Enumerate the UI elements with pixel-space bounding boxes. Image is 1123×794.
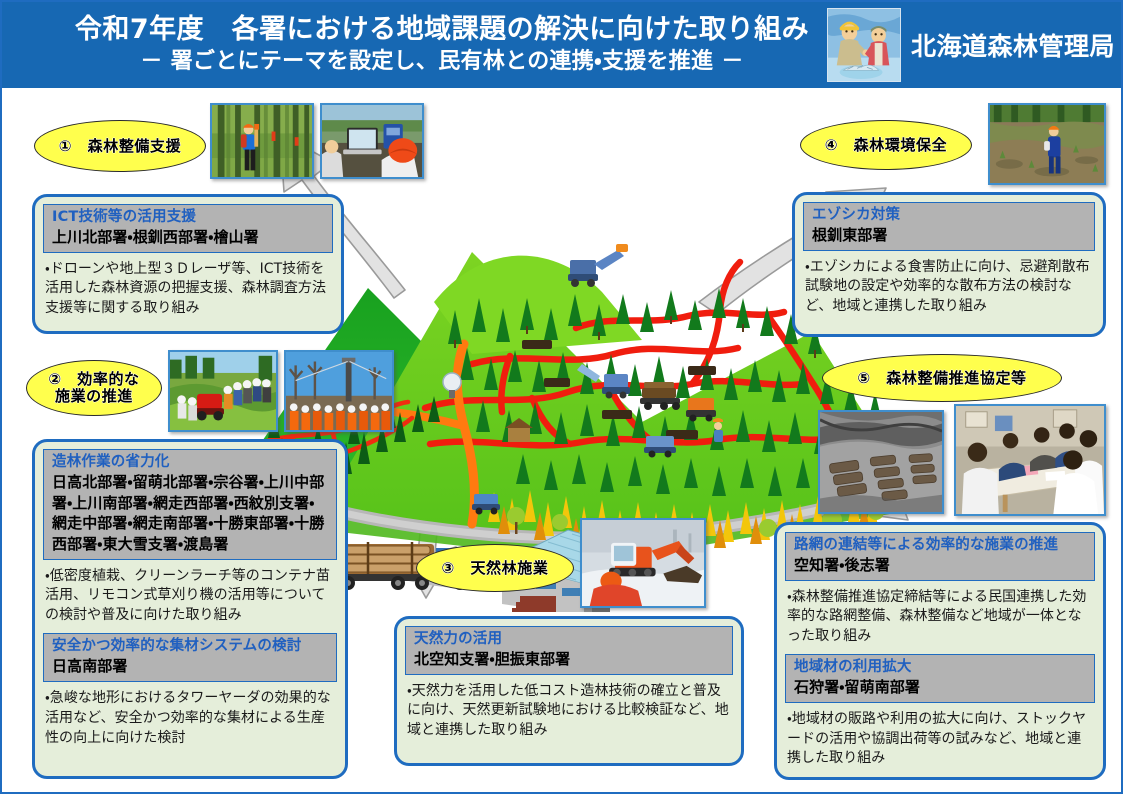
badge-section-2-label: ② 効率的な 施業の推進 (48, 371, 139, 405)
forwarder-icon (640, 382, 680, 410)
theme-offices: 空知署・後志署 (794, 555, 1086, 576)
theme-header: ICT技術等の活用支援 上川北部署・根釧西部署・檜山署 (43, 204, 333, 253)
theme-description: ・天然力を活用した低コスト造林技術の確立と普及に向け、天然更新試験地における比較… (405, 678, 733, 744)
theme-header: 路網の連結等による効率的な施業の推進 空知署・後志署 (785, 532, 1095, 581)
badge-section-5-label: ⑤ 森林整備推進協定等 (857, 370, 1026, 387)
field-laptop-measurement-photo (320, 103, 424, 179)
harvester-icon (568, 244, 628, 287)
forest-survey-photo (210, 103, 314, 179)
panel-section-5: 路網の連結等による効率的な施業の推進 空知署・後志署 ・森林整備推進協定締結等に… (774, 522, 1106, 780)
tower-yarder-crowd-photo (284, 350, 394, 432)
theme-title: 安全かつ効率的な集材システムの検討 (52, 637, 328, 656)
page-subtitle: － 署ごとにテーマを設定し、民有林との連携・支援を推進 － (140, 49, 743, 75)
remote-mower-demo-photo (168, 350, 278, 432)
panel-section-2: 造林作業の省力化 日高北部署・留萌北部署・宗谷署・上川中部署・上川南部署・網走西… (32, 439, 348, 779)
theme-header: 造林作業の省力化 日高北部署・留萌北部署・宗谷署・上川中部署・上川南部署・網走西… (43, 449, 337, 560)
theme-description: ・低密度植栽、クリーンラーチ等のコンテナ苗活用、リモコン式草刈り機の活用等につい… (43, 563, 337, 629)
theme-offices: 上川北部署・根釧西部署・檜山署 (52, 227, 324, 248)
theme-offices: 石狩署・留萌南部署 (794, 677, 1086, 698)
badge-section-1: ① 森林整備支援 (34, 120, 206, 172)
badge-section-4-label: ④ 森林環境保全 (825, 137, 948, 154)
theme-description: ・森林整備推進協定締結等による民国連携した効率的な路網整備、森林整備など地域が一… (785, 584, 1095, 650)
theme-title: 地域材の利用拡大 (794, 658, 1086, 677)
panel-section-1: ICT技術等の活用支援 上川北部署・根釧西部署・檜山署 ・ドローンや地上型３Ｄレ… (32, 194, 344, 334)
page-title: 令和7年度 各署における地域課題の解決に向けた取り組み (75, 14, 809, 45)
panel-section-4: エゾシカ対策 根釧東部署 ・エゾシカによる食害防止に向け、忌避剤散布試験地の設定… (792, 192, 1106, 337)
poster-page: 令和7年度 各署における地域課題の解決に向けた取り組み － 署ごとにテーマを設定… (0, 0, 1123, 794)
theme-description: ・地域材の販路や利用の拡大に向け、ストックヤードの活用や協調出荷等の試みなど、地… (785, 706, 1095, 772)
theme-title: 天然力の活用 (414, 630, 724, 649)
theme-offices: 根釧東部署 (812, 225, 1086, 246)
theme-header: エゾシカ対策 根釧東部署 (803, 202, 1095, 251)
badge-section-3-label: ③ 天然林施業 (442, 560, 549, 577)
repellent-spraying-photo (988, 103, 1106, 185)
agreement-meeting-photo (954, 404, 1106, 516)
header-title-group: 令和7年度 各署における地域課題の解決に向けた取り組み － 署ごとにテーマを設定… (2, 2, 882, 88)
snow-excavator-photo (580, 518, 706, 608)
badge-section-2: ② 効率的な 施業の推進 (26, 360, 162, 416)
theme-title: ICT技術等の活用支援 (52, 208, 324, 227)
theme-title: 路網の連結等による効率的な施業の推進 (794, 536, 1086, 555)
aerial-log-yard-photo (818, 410, 944, 514)
theme-title: エゾシカ対策 (812, 206, 1086, 225)
theme-offices: 日高北部署・留萌北部署・宗谷署・上川中部署・上川南部署・網走西部署・西紋別支署・… (52, 472, 328, 555)
theme-offices: 北空知支署・胆振東部署 (414, 649, 724, 670)
organization-name: 北海道森林管理局 (911, 27, 1115, 63)
theme-header: 安全かつ効率的な集材システムの検討 日高南部署 (43, 633, 337, 682)
theme-description: ・エゾシカによる食害防止に向け、忌避剤散布試験地の設定や効率的な散布方法の検討な… (803, 254, 1095, 320)
theme-title: 造林作業の省力化 (52, 453, 328, 472)
theme-header: 天然力の活用 北空知支署・胆振東部署 (405, 626, 733, 675)
theme-offices: 日高南部署 (52, 656, 328, 677)
forest-officers-logo-icon (827, 8, 901, 82)
organization-block: 北海道森林管理局 (827, 5, 1115, 85)
theme-header: 地域材の利用拡大 石狩署・留萌南部署 (785, 654, 1095, 703)
badge-section-5: ⑤ 森林整備推進協定等 (822, 354, 1062, 402)
badge-section-1-label: ① 森林整備支援 (59, 138, 182, 155)
theme-description: ・ドローンや地上型３Ｄレーザ等、ICT技術を活用した森林資源の把握支援、森林調査… (43, 256, 333, 322)
theme-description: ・急峻な地形におけるタワーヤーダの効果的な活用など、安全かつ効率的な集材による生… (43, 685, 337, 751)
page-header: 令和7年度 各署における地域課題の解決に向けた取り組み － 署ごとにテーマを設定… (2, 2, 1121, 88)
badge-section-4: ④ 森林環境保全 (800, 120, 972, 170)
panel-section-3: 天然力の活用 北空知支署・胆振東部署 ・天然力を活用した低コスト造林技術の確立と… (394, 616, 744, 766)
badge-section-3: ③ 天然林施業 (416, 544, 574, 592)
